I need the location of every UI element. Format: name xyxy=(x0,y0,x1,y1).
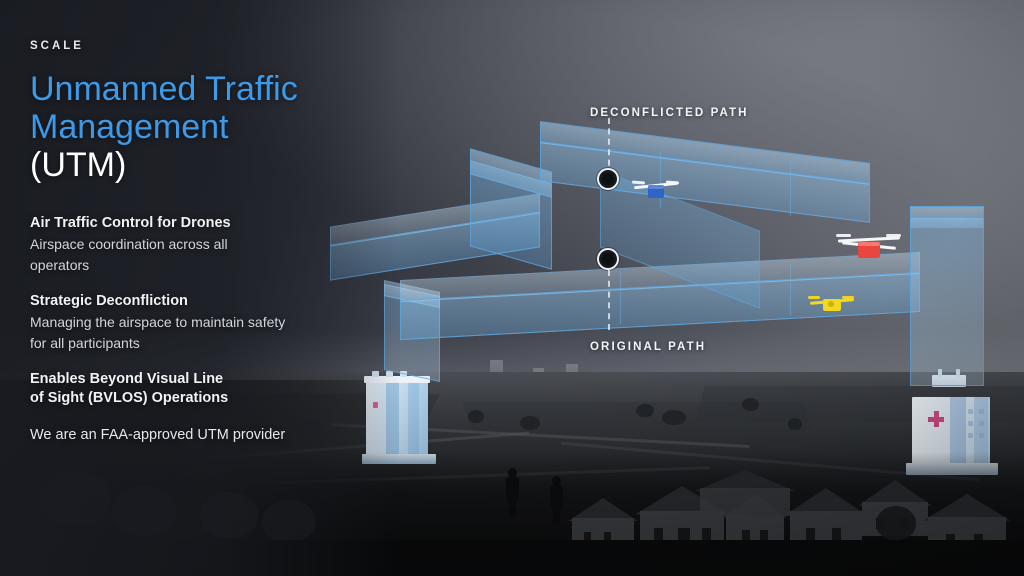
feature-heading: Air Traffic Control for Drones xyxy=(30,214,360,233)
page-title: Unmanned Traffic Management (UTM) xyxy=(30,70,360,184)
feature-body-line-1: Managing the airspace to maintain safety xyxy=(30,312,360,332)
feature-block-atc: Air Traffic Control for Drones Airspace … xyxy=(30,214,360,275)
feature-block-bvlos: Enables Beyond Visual Line of Sight (BVL… xyxy=(30,370,360,408)
feature-block-deconfliction: Strategic Deconfliction Managing the air… xyxy=(30,292,360,353)
title-line-1: Unmanned Traffic xyxy=(30,70,360,108)
feature-body-line-2: for all participants xyxy=(30,333,360,353)
feature-heading-line-1: Enables Beyond Visual Line xyxy=(30,370,360,389)
feature-blocks: Air Traffic Control for Drones Airspace … xyxy=(30,214,360,445)
closing-statement: We are an FAA-approved UTM provider xyxy=(30,425,360,445)
slide-canvas: DECONFLICTED PATH ORIGINAL PATH xyxy=(0,0,1024,576)
content-panel: SCALE Unmanned Traffic Management (UTM) … xyxy=(30,40,360,445)
feature-heading-line-2: of Sight (BVLOS) Operations xyxy=(30,389,360,408)
brand-logotype: SCALE xyxy=(30,40,360,52)
title-line-2: Management xyxy=(30,108,360,146)
feature-body-line-2: operators xyxy=(30,255,360,275)
feature-body-line-1: Airspace coordination across all xyxy=(30,234,360,254)
title-line-3: (UTM) xyxy=(30,146,360,184)
feature-heading: Strategic Deconfliction xyxy=(30,292,360,311)
